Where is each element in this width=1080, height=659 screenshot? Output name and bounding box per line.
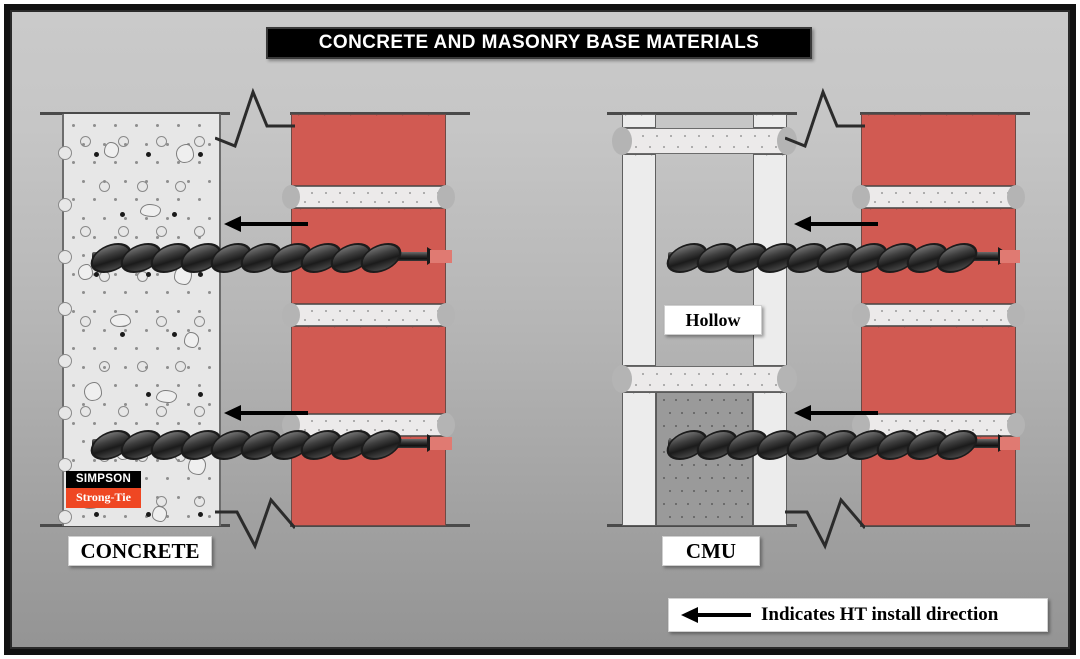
logo-line-simpson: SIMPSON	[66, 471, 141, 488]
drill-hole-lower-right	[1000, 437, 1020, 450]
page-title-text: CONCRETE AND MASONRY BASE MATERIALS	[319, 32, 759, 54]
drill-hole-upper-right	[1000, 250, 1020, 263]
drill-hole-upper-left	[430, 250, 452, 263]
air-cavity-left	[219, 114, 291, 526]
brick-veneer-left	[291, 114, 446, 526]
break-line-icon-bottom-left	[215, 494, 295, 556]
drill-bit-icon-upper-right	[668, 243, 1008, 269]
left-arrow-icon-upper-left	[224, 216, 308, 232]
left-arrow-icon-upper-right	[794, 216, 878, 232]
drill-bit-icon-lower-left	[92, 430, 437, 456]
break-line-icon-top-right	[785, 86, 865, 148]
label-hollow: Hollow	[664, 305, 762, 335]
left-arrow-icon-lower-right	[794, 405, 878, 421]
concrete-wall	[62, 114, 221, 526]
drill-bit-icon-lower-right	[668, 430, 1008, 456]
legend: Indicates HT install direction	[668, 598, 1048, 632]
label-cmu: CMU	[662, 536, 760, 566]
label-cmu-text: CMU	[686, 539, 736, 564]
drill-hole-lower-left	[430, 437, 452, 450]
left-arrow-icon-lower-left	[224, 405, 308, 421]
diagram-canvas: CONCRETE AND MASONRY BASE MATERIALS SIMP…	[0, 0, 1080, 659]
page-title: CONCRETE AND MASONRY BASE MATERIALS	[266, 27, 812, 59]
label-concrete-text: CONCRETE	[80, 539, 199, 564]
left-arrow-icon-legend	[681, 607, 751, 623]
legend-text: Indicates HT install direction	[761, 604, 998, 626]
logo-line-strongtie: Strong-Tie	[66, 488, 141, 509]
break-line-icon-top-left	[215, 86, 295, 148]
label-concrete: CONCRETE	[68, 536, 212, 566]
brick-veneer-right	[861, 114, 1016, 526]
label-hollow-text: Hollow	[685, 310, 740, 331]
air-cavity-right	[789, 114, 860, 526]
break-line-icon-bottom-right	[785, 494, 865, 556]
simpson-strongtie-logo: SIMPSON Strong-Tie	[66, 471, 141, 508]
drill-bit-icon-upper-left	[92, 243, 437, 269]
